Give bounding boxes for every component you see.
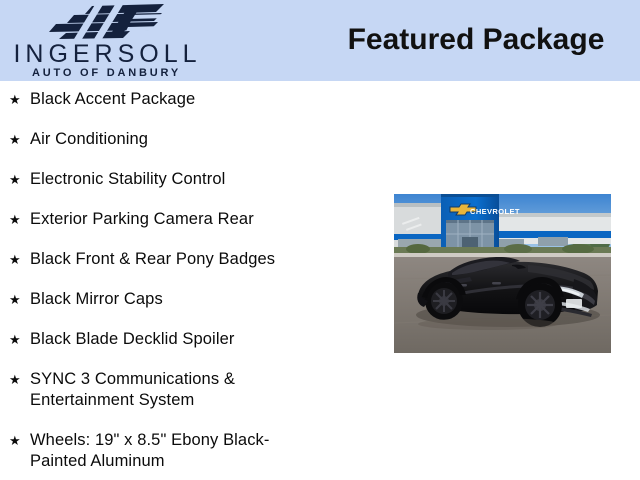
brand-name: INGERSOLL <box>0 42 210 67</box>
dealer-brand-logo: INGERSOLL AUTO OF DANBURY <box>0 2 215 80</box>
star-bullet-icon: ★ <box>9 369 21 390</box>
star-bullet-icon: ★ <box>9 249 21 270</box>
brand-subname: AUTO OF DANBURY <box>0 68 210 79</box>
list-item: ★ Electronic Stability Control <box>0 169 360 190</box>
list-item: ★ Black Mirror Caps <box>0 289 360 310</box>
list-item-label: Wheels: 19" x 8.5" Ebony Black- Painted … <box>30 430 360 472</box>
list-item-label: Electronic Stability Control <box>30 169 360 190</box>
list-item-label: Black Mirror Caps <box>30 289 360 310</box>
list-item: ★ Black Accent Package <box>0 89 360 110</box>
header-band: INGERSOLL AUTO OF DANBURY Featured Packa… <box>0 0 640 81</box>
list-item: ★ Wheels: 19" x 8.5" Ebony Black- Painte… <box>0 430 360 472</box>
list-item-label: SYNC 3 Communications & Entertainment Sy… <box>30 369 360 411</box>
feature-list: ★ Black Accent Package ★ Air Conditionin… <box>0 81 360 472</box>
list-item-label: Exterior Parking Camera Rear <box>30 209 360 230</box>
list-item-label: Black Front & Rear Pony Badges <box>30 249 360 270</box>
featured-package-slide: INGERSOLL AUTO OF DANBURY Featured Packa… <box>0 0 640 480</box>
page-title: Featured Package <box>330 22 622 58</box>
star-bullet-icon: ★ <box>9 329 21 350</box>
star-bullet-icon: ★ <box>9 430 21 451</box>
list-item-label: Black Accent Package <box>30 89 360 110</box>
vehicle-photo: CHEVROLET <box>388 187 617 360</box>
star-bullet-icon: ★ <box>9 89 21 110</box>
star-bullet-icon: ★ <box>9 129 21 150</box>
star-bullet-icon: ★ <box>9 289 21 310</box>
ingersoll-winged-emblem-icon <box>44 3 174 39</box>
list-item-label: Black Blade Decklid Spoiler <box>30 329 360 350</box>
list-item: ★ Black Blade Decklid Spoiler <box>0 329 360 350</box>
list-item: ★ SYNC 3 Communications & Entertainment … <box>0 369 360 411</box>
list-item: ★ Exterior Parking Camera Rear <box>0 209 360 230</box>
star-bullet-icon: ★ <box>9 169 21 190</box>
star-bullet-icon: ★ <box>9 209 21 230</box>
svg-text:CHEVROLET: CHEVROLET <box>470 207 520 216</box>
list-item: ★ Air Conditioning <box>0 129 360 150</box>
list-item: ★ Black Front & Rear Pony Badges <box>0 249 360 270</box>
list-item-label: Air Conditioning <box>30 129 360 150</box>
